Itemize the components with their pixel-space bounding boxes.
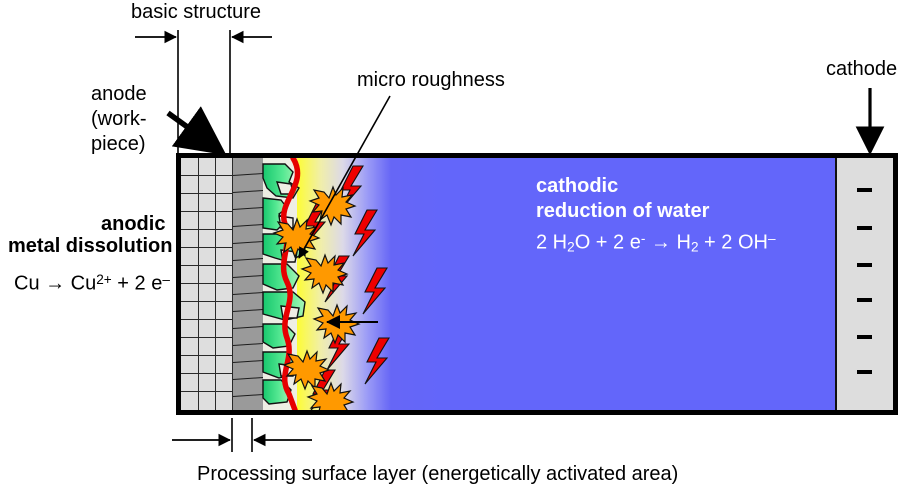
cathodic-eq-a-sub: 2 (567, 240, 575, 255)
anodic-eq-charge: 2+ (96, 272, 112, 287)
label-micro-roughness: micro roughness (357, 68, 505, 93)
label-cathode: cathode (826, 57, 897, 82)
cathodic-eq-c-sub: 2 (691, 240, 699, 255)
anodic-reaction-equation: Cu → Cu2+ + 2 e– (14, 267, 170, 297)
label-anodic-line2: metal dissolution (8, 234, 172, 259)
cathodic-reaction-equation: 2 H2O + 2 e- → H2 + 2 OH– (536, 226, 776, 260)
anode-leader-arrow (168, 113, 222, 152)
label-anode-line1: anode (91, 82, 147, 107)
figure-caption: Processing surface layer (energetically … (197, 462, 678, 487)
cathodic-title-line2: reduction of water (536, 199, 709, 224)
anodic-eq-electron: – (162, 272, 170, 287)
figure-canvas: basic structure micro roughness cathode … (0, 0, 923, 497)
cathodic-eq-d-sup: – (768, 231, 776, 246)
cathodic-eq-b: O + 2 e (575, 232, 641, 254)
anodic-eq-tail: + 2 e (112, 273, 163, 295)
electrochemical-cell-box: cathodic reduction of water 2 H2O + 2 e-… (176, 153, 898, 415)
label-basic-structure: basic structure (131, 0, 261, 25)
anodic-eq-head: Cu → Cu (14, 273, 96, 295)
label-anode-line3: piece) (91, 132, 145, 157)
cathodic-eq-a: 2 H (536, 232, 567, 254)
label-anode-line2: (work- (91, 107, 147, 132)
cathodic-eq-d: + 2 OH (699, 232, 768, 254)
cathodic-eq-c: → H (645, 232, 691, 254)
cathodic-title-line1: cathodic (536, 174, 618, 199)
